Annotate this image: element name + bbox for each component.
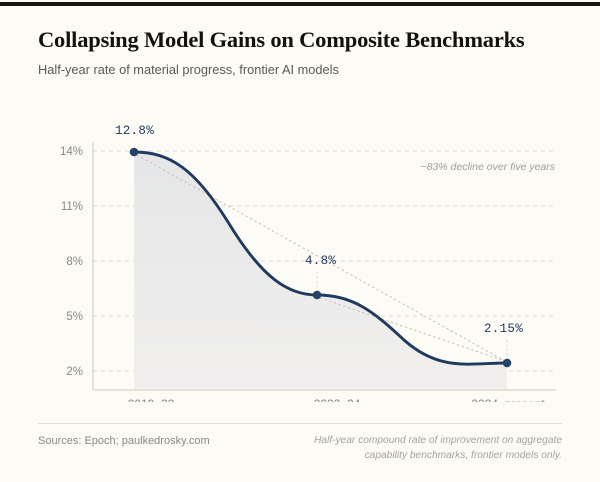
footer-divider: [38, 423, 562, 424]
data-label-1: 12.8%: [115, 124, 154, 138]
decline-annotation: −83% decline over five years: [420, 161, 555, 173]
y-tick-label-11: 11%: [61, 201, 83, 213]
x-tick-label-1: 2019–22: [128, 397, 175, 402]
data-label-2: 4.8%: [305, 254, 336, 268]
sources-text: Sources: Epoch; paulkedrosky.com: [38, 434, 210, 449]
y-tick-label-14: 14%: [60, 146, 83, 158]
area-fill: [134, 152, 507, 390]
methodology-note: Half-year compound rate of improvement o…: [314, 434, 562, 464]
y-tick-label-5: 5%: [66, 311, 83, 323]
data-label-3: 2.15%: [484, 322, 523, 336]
x-tick-label-2: 2022–24: [314, 397, 361, 402]
methodology-note-line-2: capability benchmarks, frontier models o…: [314, 449, 562, 464]
page-title: Collapsing Model Gains on Composite Benc…: [38, 28, 568, 53]
data-point-marker-3[interactable]: [503, 359, 512, 368]
page-subtitle: Half-year rate of material progress, fro…: [38, 62, 568, 77]
y-tick-label-8: 8%: [66, 256, 83, 268]
x-tick-label-3: 2024–present: [471, 397, 545, 402]
line-chart-svg: 12.8% 4.8% 2.15% 14% 11% 8% 5% 2% 2019–2…: [0, 112, 600, 402]
chart-page: Collapsing Model Gains on Composite Benc…: [0, 0, 600, 482]
data-point-marker-1[interactable]: [130, 148, 139, 157]
methodology-note-line-1: Half-year compound rate of improvement o…: [314, 434, 562, 449]
chart-header: Collapsing Model Gains on Composite Benc…: [38, 28, 568, 77]
y-tick-label-2: 2%: [66, 366, 83, 378]
data-point-marker-2[interactable]: [313, 291, 322, 300]
top-rule-decoration: [0, 2, 600, 6]
chart-plot-area: 12.8% 4.8% 2.15% 14% 11% 8% 5% 2% 2019–2…: [0, 112, 600, 402]
chart-footer: Sources: Epoch; paulkedrosky.com Half-ye…: [38, 434, 562, 464]
